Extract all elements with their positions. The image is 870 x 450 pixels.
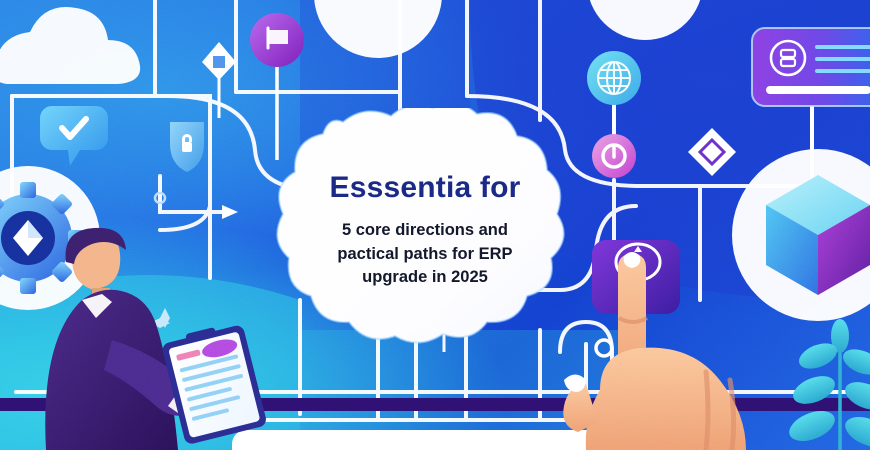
page-title: Esssentia for <box>329 172 520 204</box>
hero-banner: Esssentia for 5 core directions and pact… <box>0 0 870 450</box>
shield-lock-icon <box>170 122 204 172</box>
arrow-marker <box>222 205 238 219</box>
power-circle-icon <box>592 134 636 178</box>
hero-cloud-card: Esssentia for 5 core directions and pact… <box>255 108 595 353</box>
diamond-badge-icon <box>202 42 236 118</box>
bottom-panel <box>232 430 636 450</box>
cloud-icon <box>0 7 140 84</box>
subtitle-line-2: pactical paths for ERP <box>337 245 512 263</box>
check-pin-icon <box>40 106 108 166</box>
subtitle-line-1: 5 core directions and <box>342 221 508 239</box>
plant-leaf-icon <box>785 319 870 450</box>
page-subtitle: 5 core directions and pactical paths for… <box>337 219 512 289</box>
subtitle-line-3: upgrade in 2025 <box>362 268 488 286</box>
